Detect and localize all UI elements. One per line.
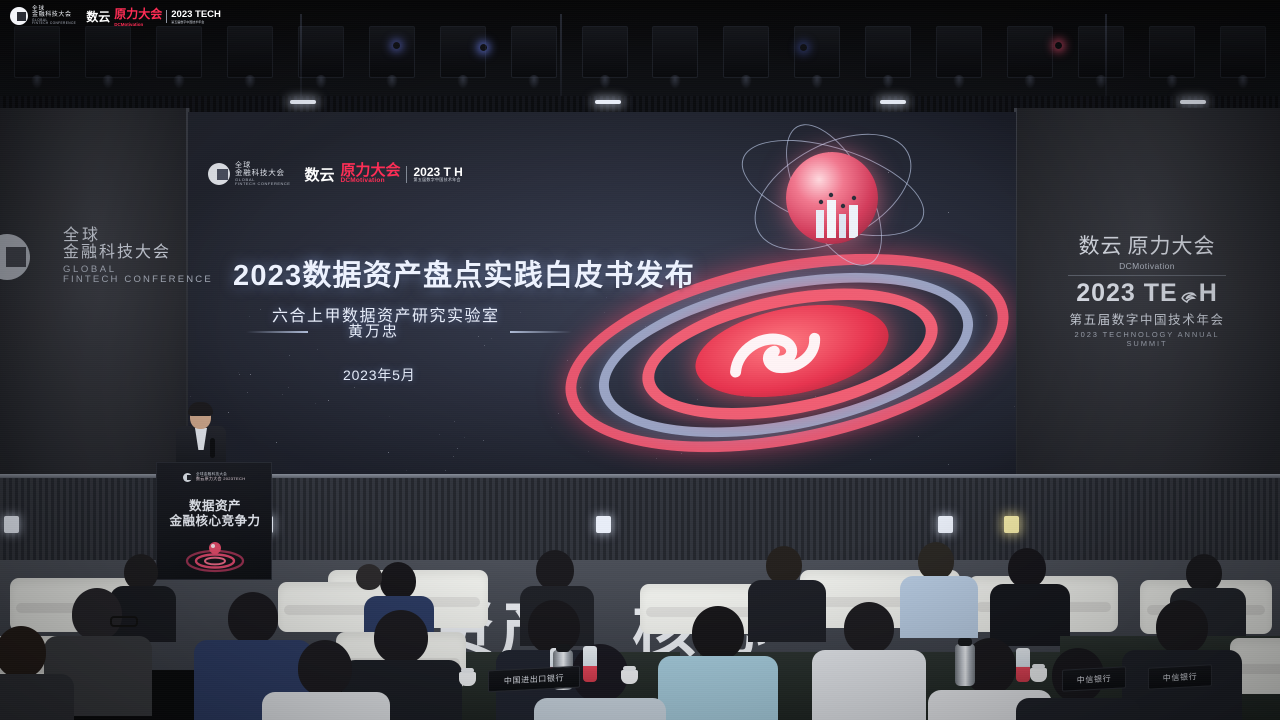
gfc-logo-mark-icon xyxy=(208,163,230,185)
wall-right-brand-cn: 数云 xyxy=(1079,230,1123,260)
screen-year-sub: 第五届数字中国技术年会 xyxy=(413,178,462,182)
thermos-flask xyxy=(955,644,975,686)
wall-right-summit-cn: 第五届数字中国技术年会 xyxy=(1062,309,1232,328)
title-rule-right xyxy=(510,331,572,333)
eyeglasses-icon xyxy=(110,616,138,627)
corner-dcm-sub: 第五届数字中国技术年会 xyxy=(171,20,221,24)
wall-right-brand-cn2: 原力大会 xyxy=(1128,230,1216,260)
podium-logo-line2: 数云原力大会 2023TECH xyxy=(196,476,245,482)
podium-logo-mark-icon xyxy=(183,473,192,482)
podium-logo-bar: 全球金融科技大会 数云原力大会 2023TECH xyxy=(183,472,245,482)
wall-left-en-line2: FINTECH CONFERENCE xyxy=(63,275,213,285)
gfc-logo-mark-icon xyxy=(10,7,28,25)
ceiling-spot-light xyxy=(1180,100,1206,104)
stage-front-lamp xyxy=(596,516,611,533)
name-card-label: 中信银行 xyxy=(1163,671,1197,684)
corner-dcm-accent: 原力大会 xyxy=(114,5,162,22)
stage-light-fixture xyxy=(1220,26,1266,78)
stage-light-fixture xyxy=(652,26,698,78)
wall-right-year-tail: H xyxy=(1199,279,1218,308)
stage-light-fixture xyxy=(723,26,769,78)
blue-lamp-icon xyxy=(393,42,400,49)
stage-light-fixture xyxy=(936,26,982,78)
ceiling-spot-light xyxy=(290,100,316,104)
speaker-hair xyxy=(188,402,213,416)
blue-lamp-icon xyxy=(480,44,487,51)
stage-light-fixture xyxy=(369,26,415,78)
corner-dcm-cn: 数云 xyxy=(86,8,110,25)
stage-light-fixture xyxy=(1149,26,1195,78)
presentation-title: 2023数据资产盘点实践白皮书发布 xyxy=(233,252,695,294)
screen-logo-bar: 全球 金融科技大会 GLOBAL FINTECH CONFERENCE 数云 原… xyxy=(208,162,463,186)
microphone-icon xyxy=(210,438,215,458)
screen-gfc-cn2: 金融科技大会 xyxy=(235,169,290,177)
screen-dcm-cn: 数云 xyxy=(304,164,334,185)
stage-light-fixture xyxy=(582,26,628,78)
screen-dcm-logo: 数云 原力大会 DCMotivation 2023 T H 第五届数字中国技术年… xyxy=(304,163,462,185)
audience-area: 中国进出口银行 中信银行 中信银行 xyxy=(0,540,1280,720)
water-bottle xyxy=(1016,648,1030,682)
stage-light-fixture xyxy=(1078,26,1124,78)
stage-light-fixture xyxy=(85,26,131,78)
main-led-screen: 全球 金融科技大会 GLOBAL FINTECH CONFERENCE 数云 原… xyxy=(188,112,1016,480)
stage-light-fixture xyxy=(865,26,911,78)
wall-logo-dcmotivation: 数云 原力大会 DCMotivation 2023 TE H 第五届数字中国技术… xyxy=(1062,230,1232,348)
wall-right-summit-en: 2023 TECHNOLOGY ANNUAL SUMMIT xyxy=(1062,330,1232,348)
swirl-sphere xyxy=(786,152,878,244)
tech-swirl-icon xyxy=(1179,284,1198,303)
stage-light-fixture xyxy=(511,26,557,78)
table-name-card: 中信银行 xyxy=(1148,664,1212,689)
tea-cup xyxy=(621,670,638,684)
city-skyline-icon xyxy=(812,192,868,238)
gfc-logo-mark-icon xyxy=(8,234,54,280)
stage-light-fixture xyxy=(1007,26,1053,78)
presentation-speaker-name: 黄万忠 xyxy=(348,320,399,341)
ceiling-spot-light xyxy=(595,100,621,104)
wall-left-cn-line1: 全球 xyxy=(63,228,213,245)
broadcast-corner-logos: 全球 金融科技大会 GLOBAL FINTECH CONFERENCE 数云 原… xyxy=(10,5,221,27)
corner-dcm-year: 2023 TECH xyxy=(171,9,221,20)
stage-front-lamp xyxy=(4,516,19,533)
stage-light-fixture xyxy=(227,26,273,78)
corner-gfc-en2: FINTECH CONFERENCE xyxy=(32,22,76,25)
blue-lamp-icon xyxy=(800,44,807,51)
stage-light-fixture xyxy=(298,26,344,78)
lighting-truss-row xyxy=(0,26,1280,82)
water-bottle xyxy=(583,646,597,682)
corner-logo-divider xyxy=(166,10,167,23)
wall-right-year: 2023 TE xyxy=(1076,279,1178,308)
table-name-card: 中信银行 xyxy=(1062,666,1126,691)
wall-left-cn-line2: 金融科技大会 xyxy=(63,245,213,262)
corner-gfc-logo: 全球 金融科技大会 GLOBAL FINTECH CONFERENCE xyxy=(10,7,76,26)
name-card-label: 中国进出口银行 xyxy=(504,672,564,686)
tea-cup xyxy=(459,672,476,686)
corner-dcm-logo: 数云 原力大会 DCMotivation 2023 TECH 第五届数字中国技术… xyxy=(86,5,221,27)
stage-light-fixture xyxy=(14,26,60,78)
screen-dcm-en: DCMotivation xyxy=(340,178,400,185)
tea-cup xyxy=(1030,668,1047,682)
screen-gfc-en2: FINTECH CONFERENCE xyxy=(235,182,290,186)
wall-logo-global-fintech-conference: 全球 金融科技大会 GLOBAL FINTECH CONFERENCE xyxy=(8,228,213,285)
conference-stage-scene: 全球 金融科技大会 GLOBAL FINTECH CONFERENCE 数云 原… xyxy=(0,0,1280,720)
stage-light-fixture xyxy=(156,26,202,78)
title-rule-left xyxy=(246,331,308,333)
wall-right-brand-en: DCMotivation xyxy=(1062,261,1232,271)
stage-front-lamp xyxy=(1004,516,1019,533)
presentation-date: 2023年5月 xyxy=(343,365,416,385)
ceiling-spot-light xyxy=(880,100,906,104)
screen-3d-swirl-graphic xyxy=(548,142,1016,472)
stage-light-fixture xyxy=(440,26,486,78)
stage-light-fixture xyxy=(794,26,840,78)
red-lamp-icon xyxy=(1055,42,1062,49)
stage-front-lamp xyxy=(938,516,953,533)
corner-dcm-en: DCMotivation xyxy=(114,22,162,27)
screen-gfc-logo: 全球 金融科技大会 GLOBAL FINTECH CONFERENCE xyxy=(208,162,290,186)
podium-title-line2: 金融核心竞争力 xyxy=(157,510,272,529)
wall-right-divider xyxy=(1068,275,1226,276)
name-card-label: 中信银行 xyxy=(1077,673,1111,686)
screen-dcm-accent: 原力大会 xyxy=(340,163,400,178)
screen-logo-divider xyxy=(406,166,407,183)
